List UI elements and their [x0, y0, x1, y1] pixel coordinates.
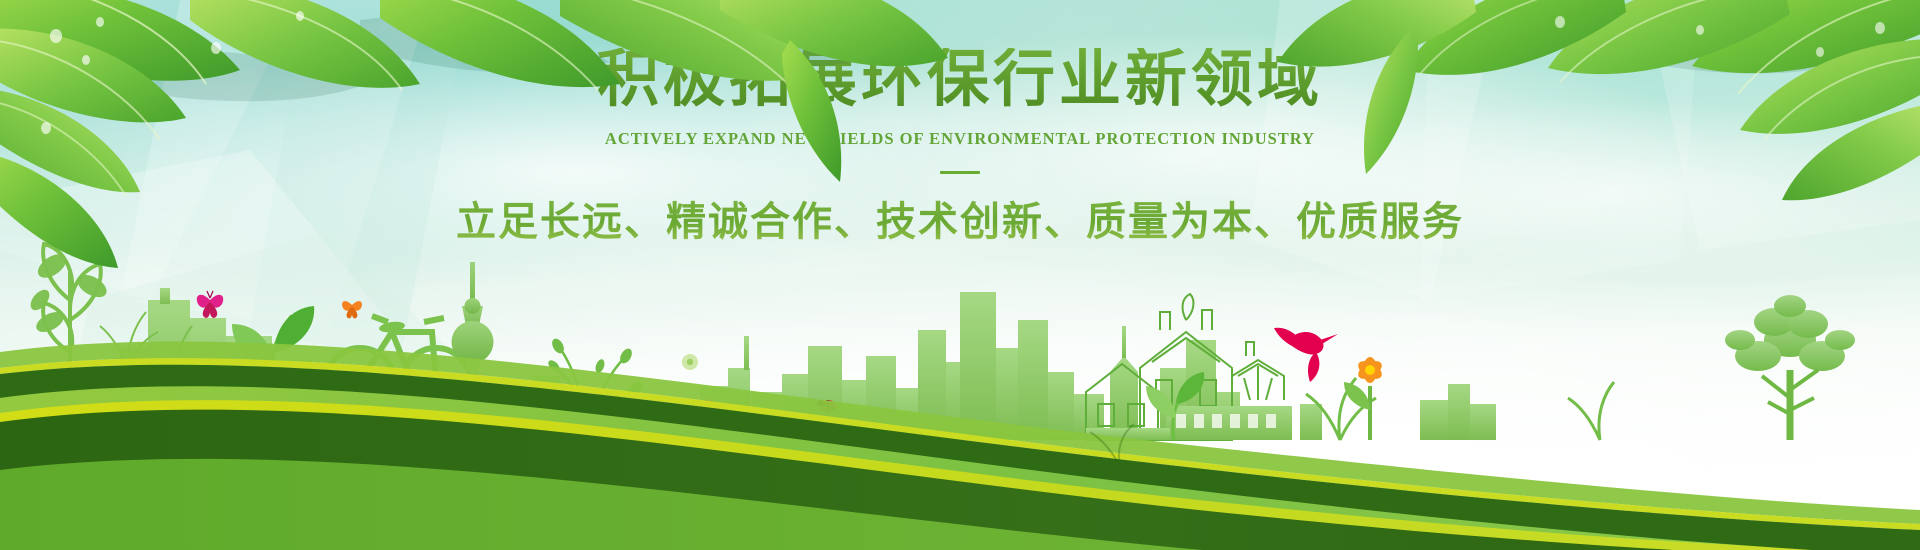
- leaf-cluster-icon: [0, 0, 1920, 550]
- leaf-top-right-group: [1278, 0, 1920, 200]
- leaf-top-left-group: [0, 0, 948, 268]
- eco-banner: 积极拓展环保行业新领域 ACTIVELY EXPAND NEW FIELDS O…: [0, 0, 1920, 550]
